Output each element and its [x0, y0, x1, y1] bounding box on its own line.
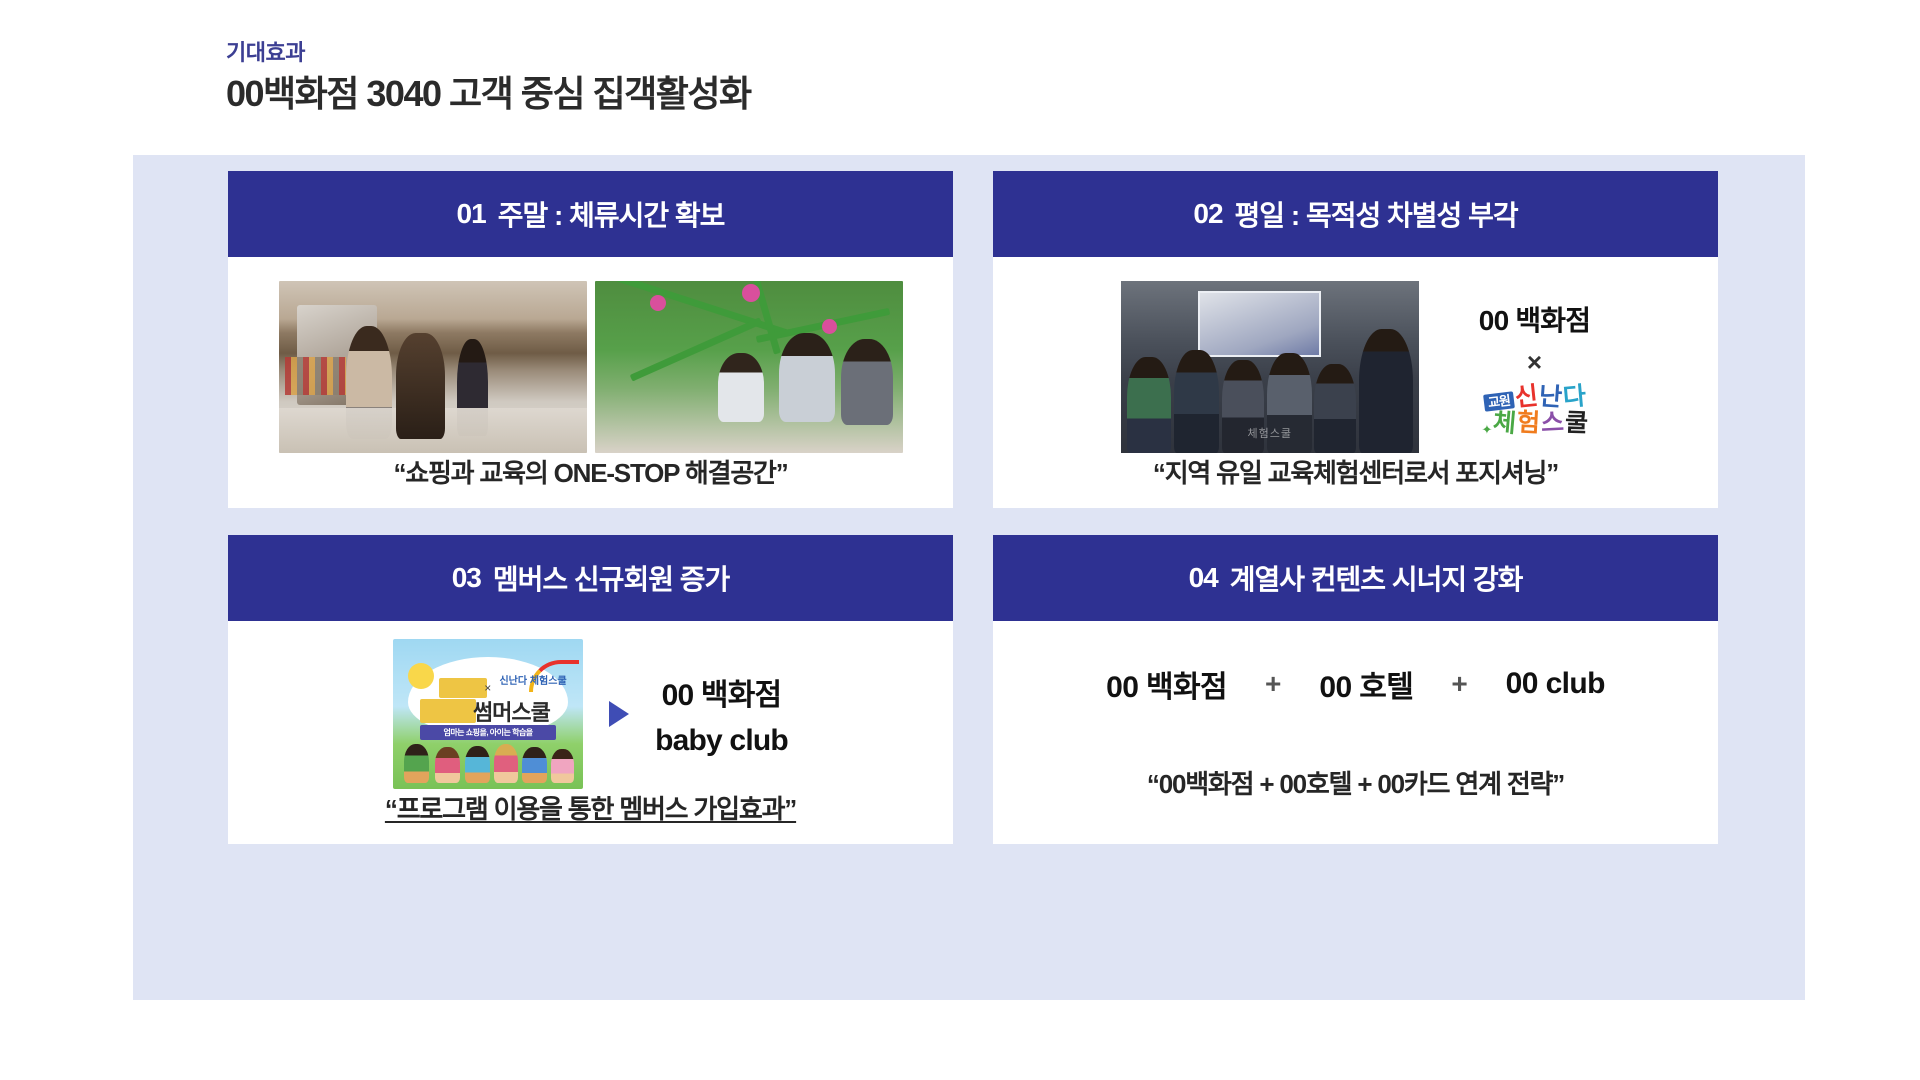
- card-01-caption: “쇼핑과 교육의 ONE-STOP 해결공간”: [393, 453, 787, 490]
- card-02-title: 평일 : 목적성 차별성 부각: [1235, 194, 1518, 234]
- card-04[interactable]: 04 계열사 컨텐츠 시너지 강화 00 백화점 + 00 호텔 + 00 cl…: [993, 535, 1718, 844]
- brand-department-label: 00 백화점: [1479, 299, 1590, 339]
- store-floor-shape: [279, 408, 587, 453]
- card-04-number: 04: [1189, 562, 1218, 594]
- multiply-icon: ×: [1527, 349, 1542, 375]
- kid-shape: [522, 747, 547, 783]
- card-04-body: 00 백화점 + 00 호텔 + 00 club “00백화점 + 00호텔 +…: [993, 621, 1718, 844]
- kids-workshop-photo: [595, 281, 903, 453]
- card-03-result-block: 00 백화점 baby club: [655, 670, 788, 758]
- panel-board: 01 주말 : 체류시간 확보: [133, 155, 1805, 1000]
- card-01-header: 01 주말 : 체류시간 확보: [228, 171, 953, 257]
- kid-shape: [465, 746, 490, 784]
- card-03[interactable]: 03 멤버스 신규회원 증가 × 신난다 체험스쿨 썸머스쿨 엄마는 쇼핑을, …: [228, 535, 953, 844]
- card-04-title: 계열사 컨텐츠 시너지 강화: [1230, 558, 1523, 598]
- store-goods-shape: [285, 357, 347, 395]
- card-03-content-row: × 신난다 체험스쿨 썸머스쿨 엄마는 쇼핑을, 아이는 학습을 00 백화점: [393, 639, 788, 789]
- card-04-header: 04 계열사 컨텐츠 시너지 강화: [993, 535, 1718, 621]
- poster-title: 썸머스쿨: [473, 695, 550, 727]
- eyebrow-label: 기대효과: [226, 40, 751, 66]
- page-title: 00백화점 3040 고객 중심 집객활성화: [226, 72, 751, 115]
- photo-watermark: 체험스쿨: [1121, 425, 1419, 441]
- plus-icon: +: [1265, 668, 1281, 700]
- card-01-title: 주말 : 체류시간 확보: [498, 194, 725, 234]
- poster-subtitle: 엄마는 쇼핑을, 아이는 학습을: [420, 725, 557, 740]
- card-04-caption: “00백화점 + 00호텔 + 00카드 연계 전략”: [1147, 764, 1564, 801]
- slide-header: 기대효과 00백화점 3040 고객 중심 집객활성화: [226, 40, 751, 116]
- summer-school-poster: × 신난다 체험스쿨 썸머스쿨 엄마는 쇼핑을, 아이는 학습을: [393, 639, 583, 789]
- star-icon: ✦: [1482, 423, 1492, 436]
- kid-shape: [841, 339, 893, 425]
- card-01[interactable]: 01 주말 : 체류시간 확보: [228, 171, 953, 508]
- classroom-photo: 체험스쿨: [1121, 281, 1419, 453]
- card-02-number: 02: [1193, 198, 1222, 230]
- magnet-shape: [822, 319, 837, 334]
- experience-school-logo: 교원 신난다 ✦ 체험스쿨: [1482, 385, 1588, 436]
- card-03-caption-text: “프로그램 이용을 통한 멤버스 가입효과”: [385, 794, 796, 824]
- card-03-body: × 신난다 체험스쿨 썸머스쿨 엄마는 쇼핑을, 아이는 학습을 00 백화점: [228, 621, 953, 844]
- card-04-item-2: 00 호텔: [1319, 662, 1413, 706]
- projector-screen-shape: [1198, 291, 1321, 357]
- card-03-result-line2: baby club: [655, 724, 788, 758]
- arrow-right-icon: [609, 701, 629, 727]
- card-04-items-row: 00 백화점 + 00 호텔 + 00 club: [1106, 662, 1605, 706]
- kid-shape: [435, 747, 460, 783]
- card-02-body: 체험스쿨 00 백화점 × 교원 신난다 ✦ 체험스쿨: [993, 257, 1718, 508]
- poster-partner-logo: 신난다 체험스쿨: [499, 677, 566, 687]
- card-03-header: 03 멤버스 신규회원 증가: [228, 535, 953, 621]
- kid-shape: [779, 333, 834, 422]
- plus-icon: +: [1451, 668, 1467, 700]
- kid-shape: [494, 744, 519, 783]
- cards-grid: 01 주말 : 체류시간 확보: [228, 171, 1718, 844]
- card-01-number: 01: [457, 198, 486, 230]
- card-03-title: 멤버스 신규회원 증가: [493, 558, 729, 598]
- card-02-content-row: 체험스쿨 00 백화점 × 교원 신난다 ✦ 체험스쿨: [1003, 281, 1708, 453]
- card-02[interactable]: 02 평일 : 목적성 차별성 부각 체험스쿨: [993, 171, 1718, 508]
- card-03-result-line1: 00 백화점: [662, 670, 782, 714]
- card-02-header: 02 평일 : 목적성 차별성 부각: [993, 171, 1718, 257]
- multiply-icon: ×: [484, 681, 491, 695]
- card-04-item-1: 00 백화점: [1106, 662, 1227, 706]
- kid-shape: [718, 353, 764, 422]
- card-01-photo-row: [279, 281, 903, 453]
- magnet-shape: [650, 295, 666, 311]
- card-02-caption: “지역 유일 교육체험센터로서 포지셔닝”: [1153, 453, 1558, 490]
- card-04-item-3: 00 club: [1506, 667, 1605, 701]
- card-01-body: “쇼핑과 교육의 ONE-STOP 해결공간”: [228, 257, 953, 508]
- kid-shape: [404, 744, 429, 783]
- brand-partnership-block: 00 백화점 × 교원 신난다 ✦ 체험스쿨: [1479, 299, 1590, 436]
- poster-logo-box: [420, 699, 476, 723]
- card-03-number: 03: [452, 562, 481, 594]
- card-03-caption: “프로그램 이용을 통한 멤버스 가입효과”: [385, 789, 796, 826]
- kid-shape: [551, 749, 574, 784]
- department-store-photo: [279, 281, 587, 453]
